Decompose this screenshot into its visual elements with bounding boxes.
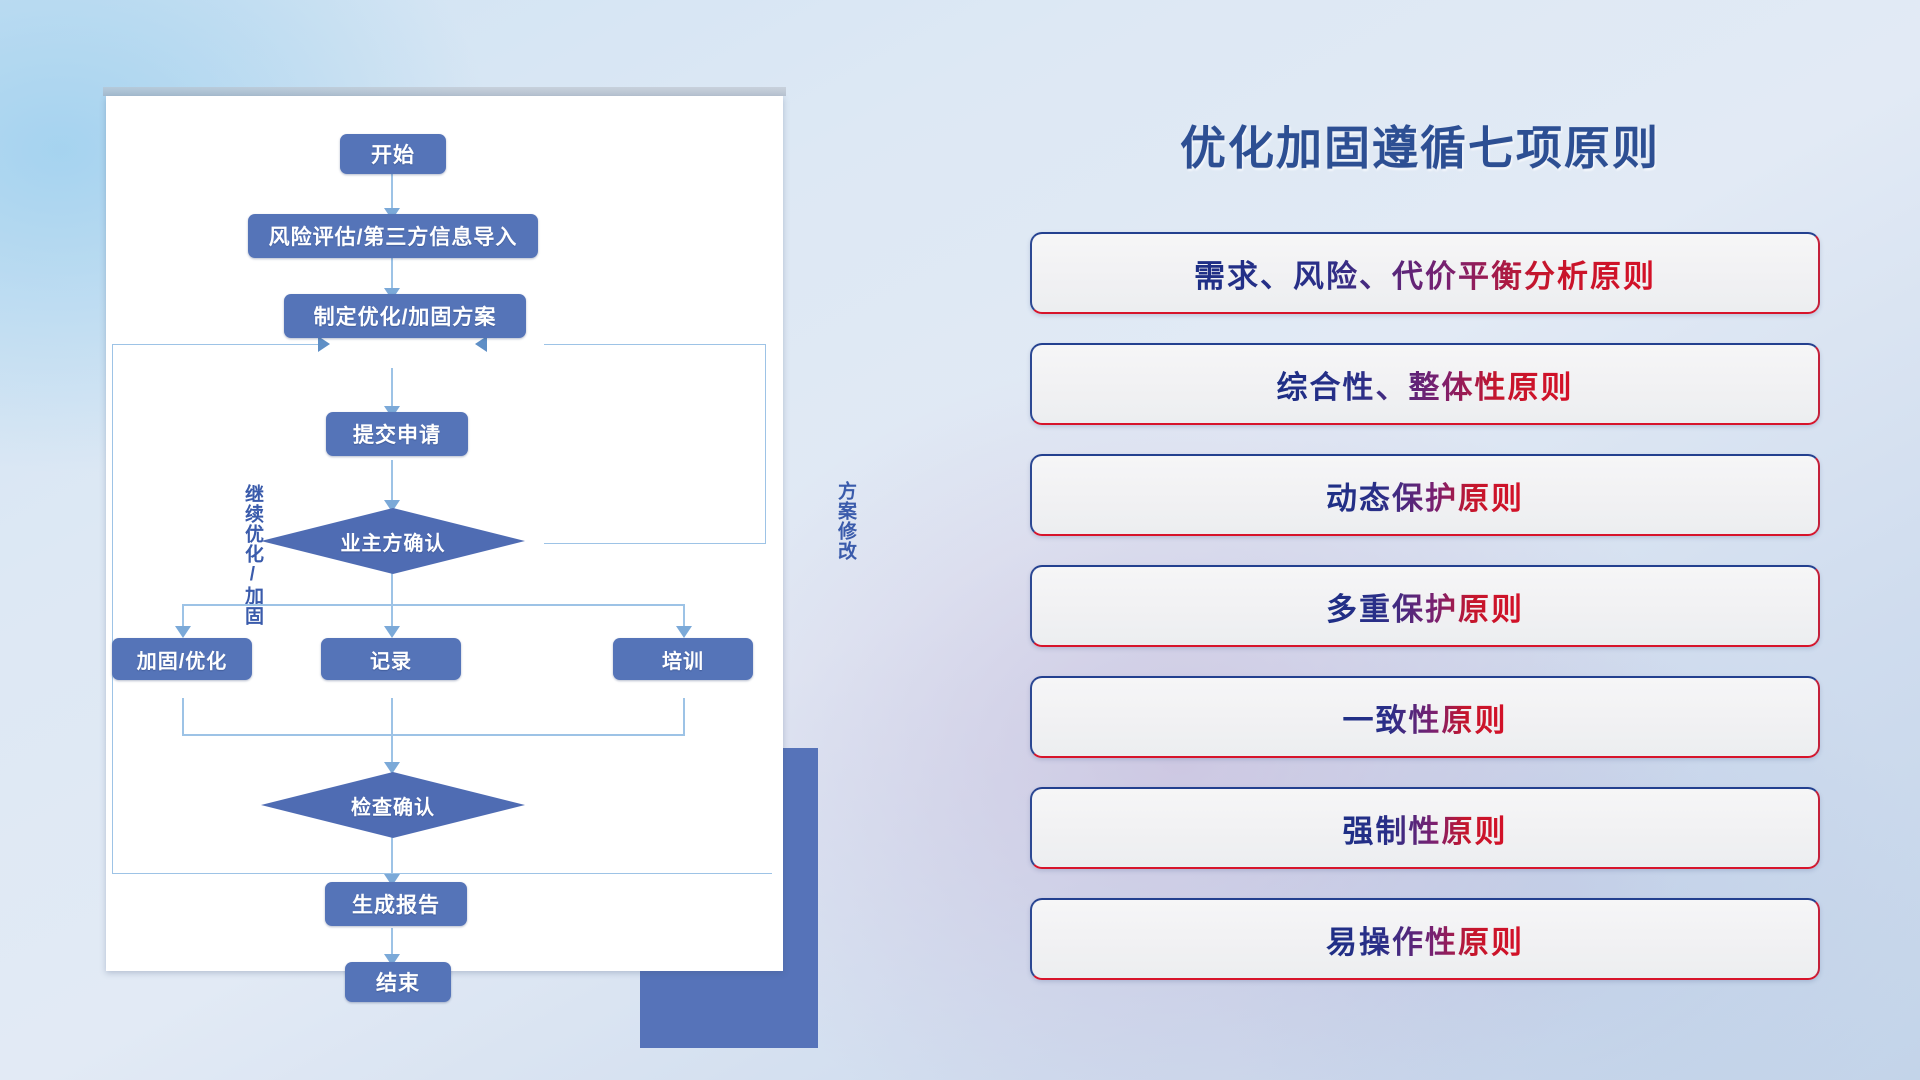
- flowchart-canvas: 继续优化/加固 方案修改 开始 风险评估/第三方信息导入: [106, 96, 783, 971]
- flow-node-plan[interactable]: 制定优化/加固方案: [284, 294, 526, 338]
- arrowhead-reinforce: [175, 626, 191, 638]
- flow-node-training[interactable]: 培训: [613, 638, 753, 680]
- connector-reinforce-down: [182, 698, 184, 736]
- flow-node-end[interactable]: 结束: [345, 962, 451, 1002]
- revise-loop-label: 方案修改: [835, 481, 855, 561]
- flow-node-risk-assessment[interactable]: 风险评估/第三方信息导入: [248, 214, 538, 258]
- flowchart-panel: 继续优化/加固 方案修改 开始 风险评估/第三方信息导入: [0, 0, 830, 1080]
- principle-card[interactable]: 动态保护原则: [1030, 454, 1820, 536]
- arrowhead-training: [676, 626, 692, 638]
- principles-title: 优化加固遵循七项原则: [980, 112, 1860, 178]
- continue-loop-top-segment: [112, 344, 324, 346]
- connector-record-down: [391, 698, 393, 736]
- principle-card[interactable]: 易操作性原则: [1030, 898, 1820, 980]
- flow-node-start[interactable]: 开始: [340, 134, 446, 174]
- principle-card[interactable]: 多重保护原则: [1030, 565, 1820, 647]
- arrowhead-check: [384, 762, 400, 774]
- arrowhead-record: [384, 626, 400, 638]
- continue-loop-arrowhead: [318, 336, 330, 352]
- principle-card[interactable]: 强制性原则: [1030, 787, 1820, 869]
- flow-node-record[interactable]: 记录: [321, 638, 461, 680]
- revise-loop-arrowhead: [475, 336, 487, 352]
- principle-label: 多重保护原则: [1326, 584, 1524, 629]
- principle-label: 综合性、整体性原则: [1277, 362, 1574, 407]
- principle-label: 动态保护原则: [1326, 473, 1524, 518]
- principle-card[interactable]: 一致性原则: [1030, 676, 1820, 758]
- principle-card[interactable]: 需求、风险、代价平衡分析原则: [1030, 232, 1820, 314]
- flow-node-submit-application[interactable]: 提交申请: [326, 412, 468, 456]
- connector-fanout-bus: [182, 604, 685, 606]
- flow-node-generate-report[interactable]: 生成报告: [325, 882, 467, 926]
- principle-label: 需求、风险、代价平衡分析原则: [1194, 251, 1656, 296]
- principles-panel: 优化加固遵循七项原则 需求、风险、代价平衡分析原则 综合性、整体性原则 动态保护…: [980, 0, 1920, 1080]
- connector-training-down: [683, 698, 685, 736]
- revise-loop-path: [544, 344, 766, 544]
- principle-label: 易操作性原则: [1326, 917, 1524, 962]
- flow-node-reinforce[interactable]: 加固/优化: [112, 638, 252, 680]
- principle-card[interactable]: 综合性、整体性原则: [1030, 343, 1820, 425]
- principle-label: 一致性原则: [1343, 695, 1508, 740]
- connector-fanin-bus: [182, 734, 685, 736]
- principles-list: 需求、风险、代价平衡分析原则 综合性、整体性原则 动态保护原则 多重保护原则 一…: [1030, 232, 1820, 1009]
- principle-label: 强制性原则: [1343, 806, 1508, 851]
